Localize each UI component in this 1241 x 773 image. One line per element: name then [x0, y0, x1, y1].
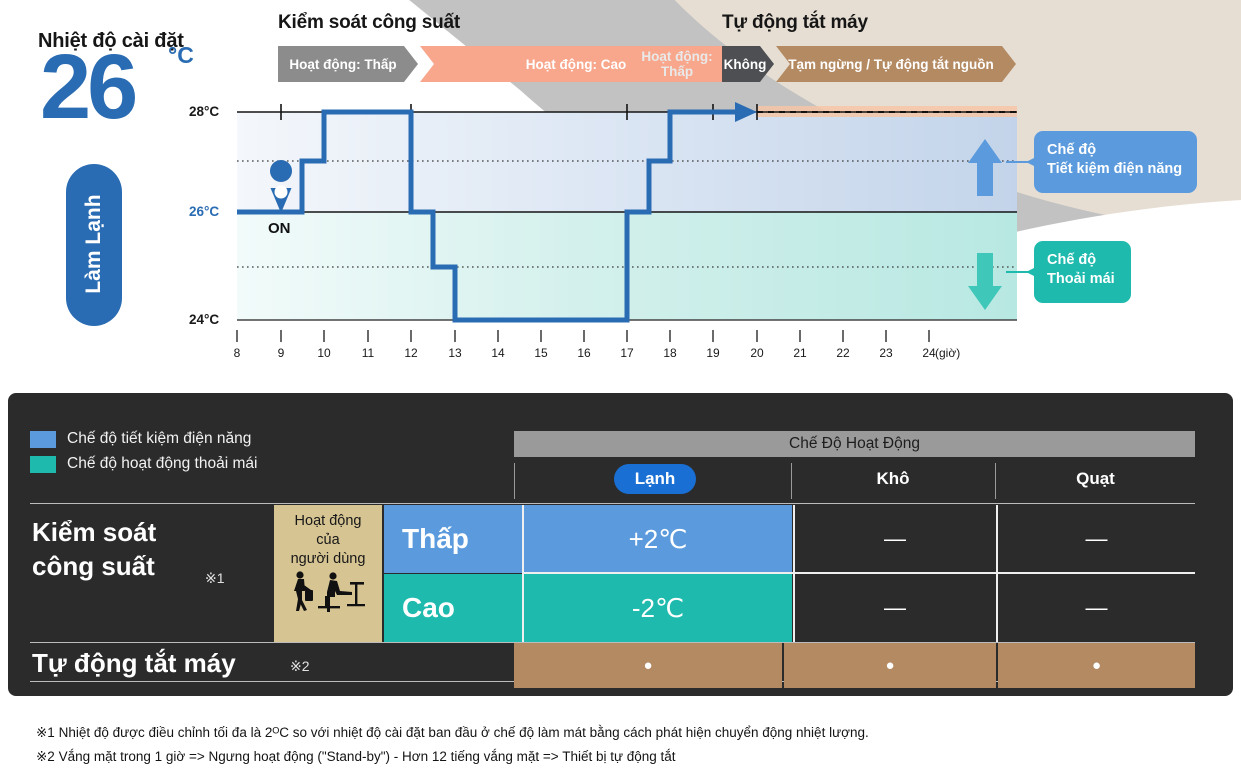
x-axis-label: 20 [745, 346, 769, 360]
auto-off-cell-fan: ● [998, 643, 1195, 688]
cell-divider [793, 505, 795, 642]
column-header-row: Lạnh Khô Quạt [514, 461, 1195, 503]
footnote-1: ※1 Nhiệt độ được điều chỉnh tối đa là 2ᴼ… [36, 725, 869, 741]
x-axis-label: 18 [658, 346, 682, 360]
level-cell-high: Cao [384, 574, 522, 642]
value-cell-high-cool: -2℃ [524, 574, 792, 642]
callout-eco-line2: Tiết kiệm điện năng [1047, 160, 1184, 179]
auto-off-cell-dry: ● [784, 643, 996, 688]
column-header-cool-selected[interactable]: Lạnh [614, 464, 696, 494]
footnote-2: ※2 Vắng mặt trong 1 giờ => Ngưng hoạt độ… [36, 749, 869, 765]
auto-off-dot-cool: ● [643, 657, 652, 674]
on-marker-label: ON [268, 220, 291, 237]
cell-divider [524, 572, 1195, 574]
value-cell-low-fan: — [998, 505, 1195, 573]
x-axis-label: 8 [225, 346, 249, 360]
x-axis-label: 11 [356, 346, 380, 360]
y-axis-label-26: 26°C [189, 204, 219, 219]
user-activity-icons [278, 570, 378, 612]
column-label-cool: Lạnh [635, 469, 676, 489]
activity-line3: người dùng [291, 551, 366, 567]
legend-swatch-eco [30, 431, 56, 448]
legend-label-comfort: Chế độ hoạt động thoải mái [67, 455, 257, 473]
activity-line2: của [316, 532, 339, 548]
cell-divider [996, 505, 998, 642]
x-axis-label: 16 [572, 346, 596, 360]
row-note-power-control: ※1 [205, 570, 225, 587]
x-axis-label: 22 [831, 346, 855, 360]
auto-off-cell-cool: ● [514, 643, 782, 688]
x-axis-label: 9 [269, 346, 293, 360]
callout-comfort-mode: Chế độ Thoải mái [1034, 241, 1131, 303]
value-low-fan: — [1086, 526, 1108, 552]
col-divider [514, 463, 515, 499]
legend-item-comfort: Chế độ hoạt động thoải mái [30, 455, 257, 473]
walking-person-icon [294, 571, 313, 611]
row-title-power-control: Kiểm soát công suất [32, 515, 262, 583]
eco-band [237, 112, 1017, 212]
y-axis-label-28: 28°C [189, 104, 219, 119]
x-axis-label: 15 [529, 346, 553, 360]
level-label-low: Thấp [402, 523, 469, 555]
x-axis-label: 17 [615, 346, 639, 360]
diagram-top-section: Nhiệt độ cài đặt Kiểm soát công suất Tự … [0, 0, 1241, 392]
callout-eco-line1: Chế độ [1047, 141, 1184, 160]
user-activity-cell: Hoạt động của người dùng [274, 505, 382, 642]
legend-label-eco: Chế độ tiết kiệm điện năng [67, 430, 251, 448]
activity-line1: Hoạt động [295, 513, 362, 529]
x-axis-ticks [237, 330, 929, 342]
x-axis-label: 23 [874, 346, 898, 360]
column-label-fan: Quạt [1076, 469, 1115, 489]
x-axis-label: 21 [788, 346, 812, 360]
x-axis-unit-label: (giờ) [935, 346, 960, 360]
seated-person-icon [318, 572, 365, 612]
row-title-auto-off: Tự động tắt máy [32, 648, 236, 679]
callout-eco-mode: Chế độ Tiết kiệm điện năng [1034, 131, 1197, 193]
y-axis-label-24: 24°C [189, 312, 219, 327]
x-axis-label: 10 [312, 346, 336, 360]
footnotes: ※1 Nhiệt độ được điều chỉnh tối đa là 2ᴼ… [36, 725, 869, 765]
level-label-high: Cao [402, 592, 455, 624]
callout-comfort-line1: Chế độ [1047, 251, 1118, 270]
level-cell-low: Thấp [384, 505, 522, 573]
group-header-operating-mode: Chế Độ Hoạt Động [514, 431, 1195, 457]
row-note-auto-off: ※2 [290, 658, 310, 675]
x-axis-label: 12 [399, 346, 423, 360]
value-high-dry: — [884, 595, 906, 621]
auto-off-dot-fan: ● [1092, 657, 1101, 674]
group-header-label: Chế Độ Hoạt Động [789, 435, 920, 453]
x-axis-label: 13 [443, 346, 467, 360]
row-title-line2: công suất [32, 551, 155, 581]
column-header-fan[interactable]: Quạt [996, 464, 1195, 494]
value-high-fan: — [1086, 595, 1108, 621]
row-divider [30, 503, 1195, 504]
column-header-dry[interactable]: Khô [791, 464, 995, 494]
cell-divider [522, 505, 524, 642]
x-axis-label: 19 [701, 346, 725, 360]
value-cell-low-cool: +2℃ [524, 505, 792, 573]
value-cell-high-dry: — [794, 574, 996, 642]
temperature-timeline-chart [0, 0, 1241, 392]
value-high-cool: -2℃ [632, 593, 684, 624]
panel-legend: Chế độ tiết kiệm điện năng Chế độ hoạt đ… [30, 430, 257, 473]
mode-matrix-panel: Chế độ tiết kiệm điện năng Chế độ hoạt đ… [8, 393, 1233, 696]
x-axis-label: 14 [486, 346, 510, 360]
legend-item-eco: Chế độ tiết kiệm điện năng [30, 430, 257, 448]
auto-off-dot-dry: ● [885, 657, 894, 674]
user-activity-label: Hoạt động của người dùng [291, 512, 366, 569]
row-title-line1: Kiểm soát [32, 517, 156, 547]
legend-swatch-comfort [30, 456, 56, 473]
value-low-cool: +2℃ [629, 524, 688, 555]
value-cell-low-dry: — [794, 505, 996, 573]
value-cell-high-fan: — [998, 574, 1195, 642]
callout-comfort-line2: Thoải mái [1047, 270, 1118, 289]
value-low-dry: — [884, 526, 906, 552]
column-label-dry: Khô [876, 469, 909, 489]
